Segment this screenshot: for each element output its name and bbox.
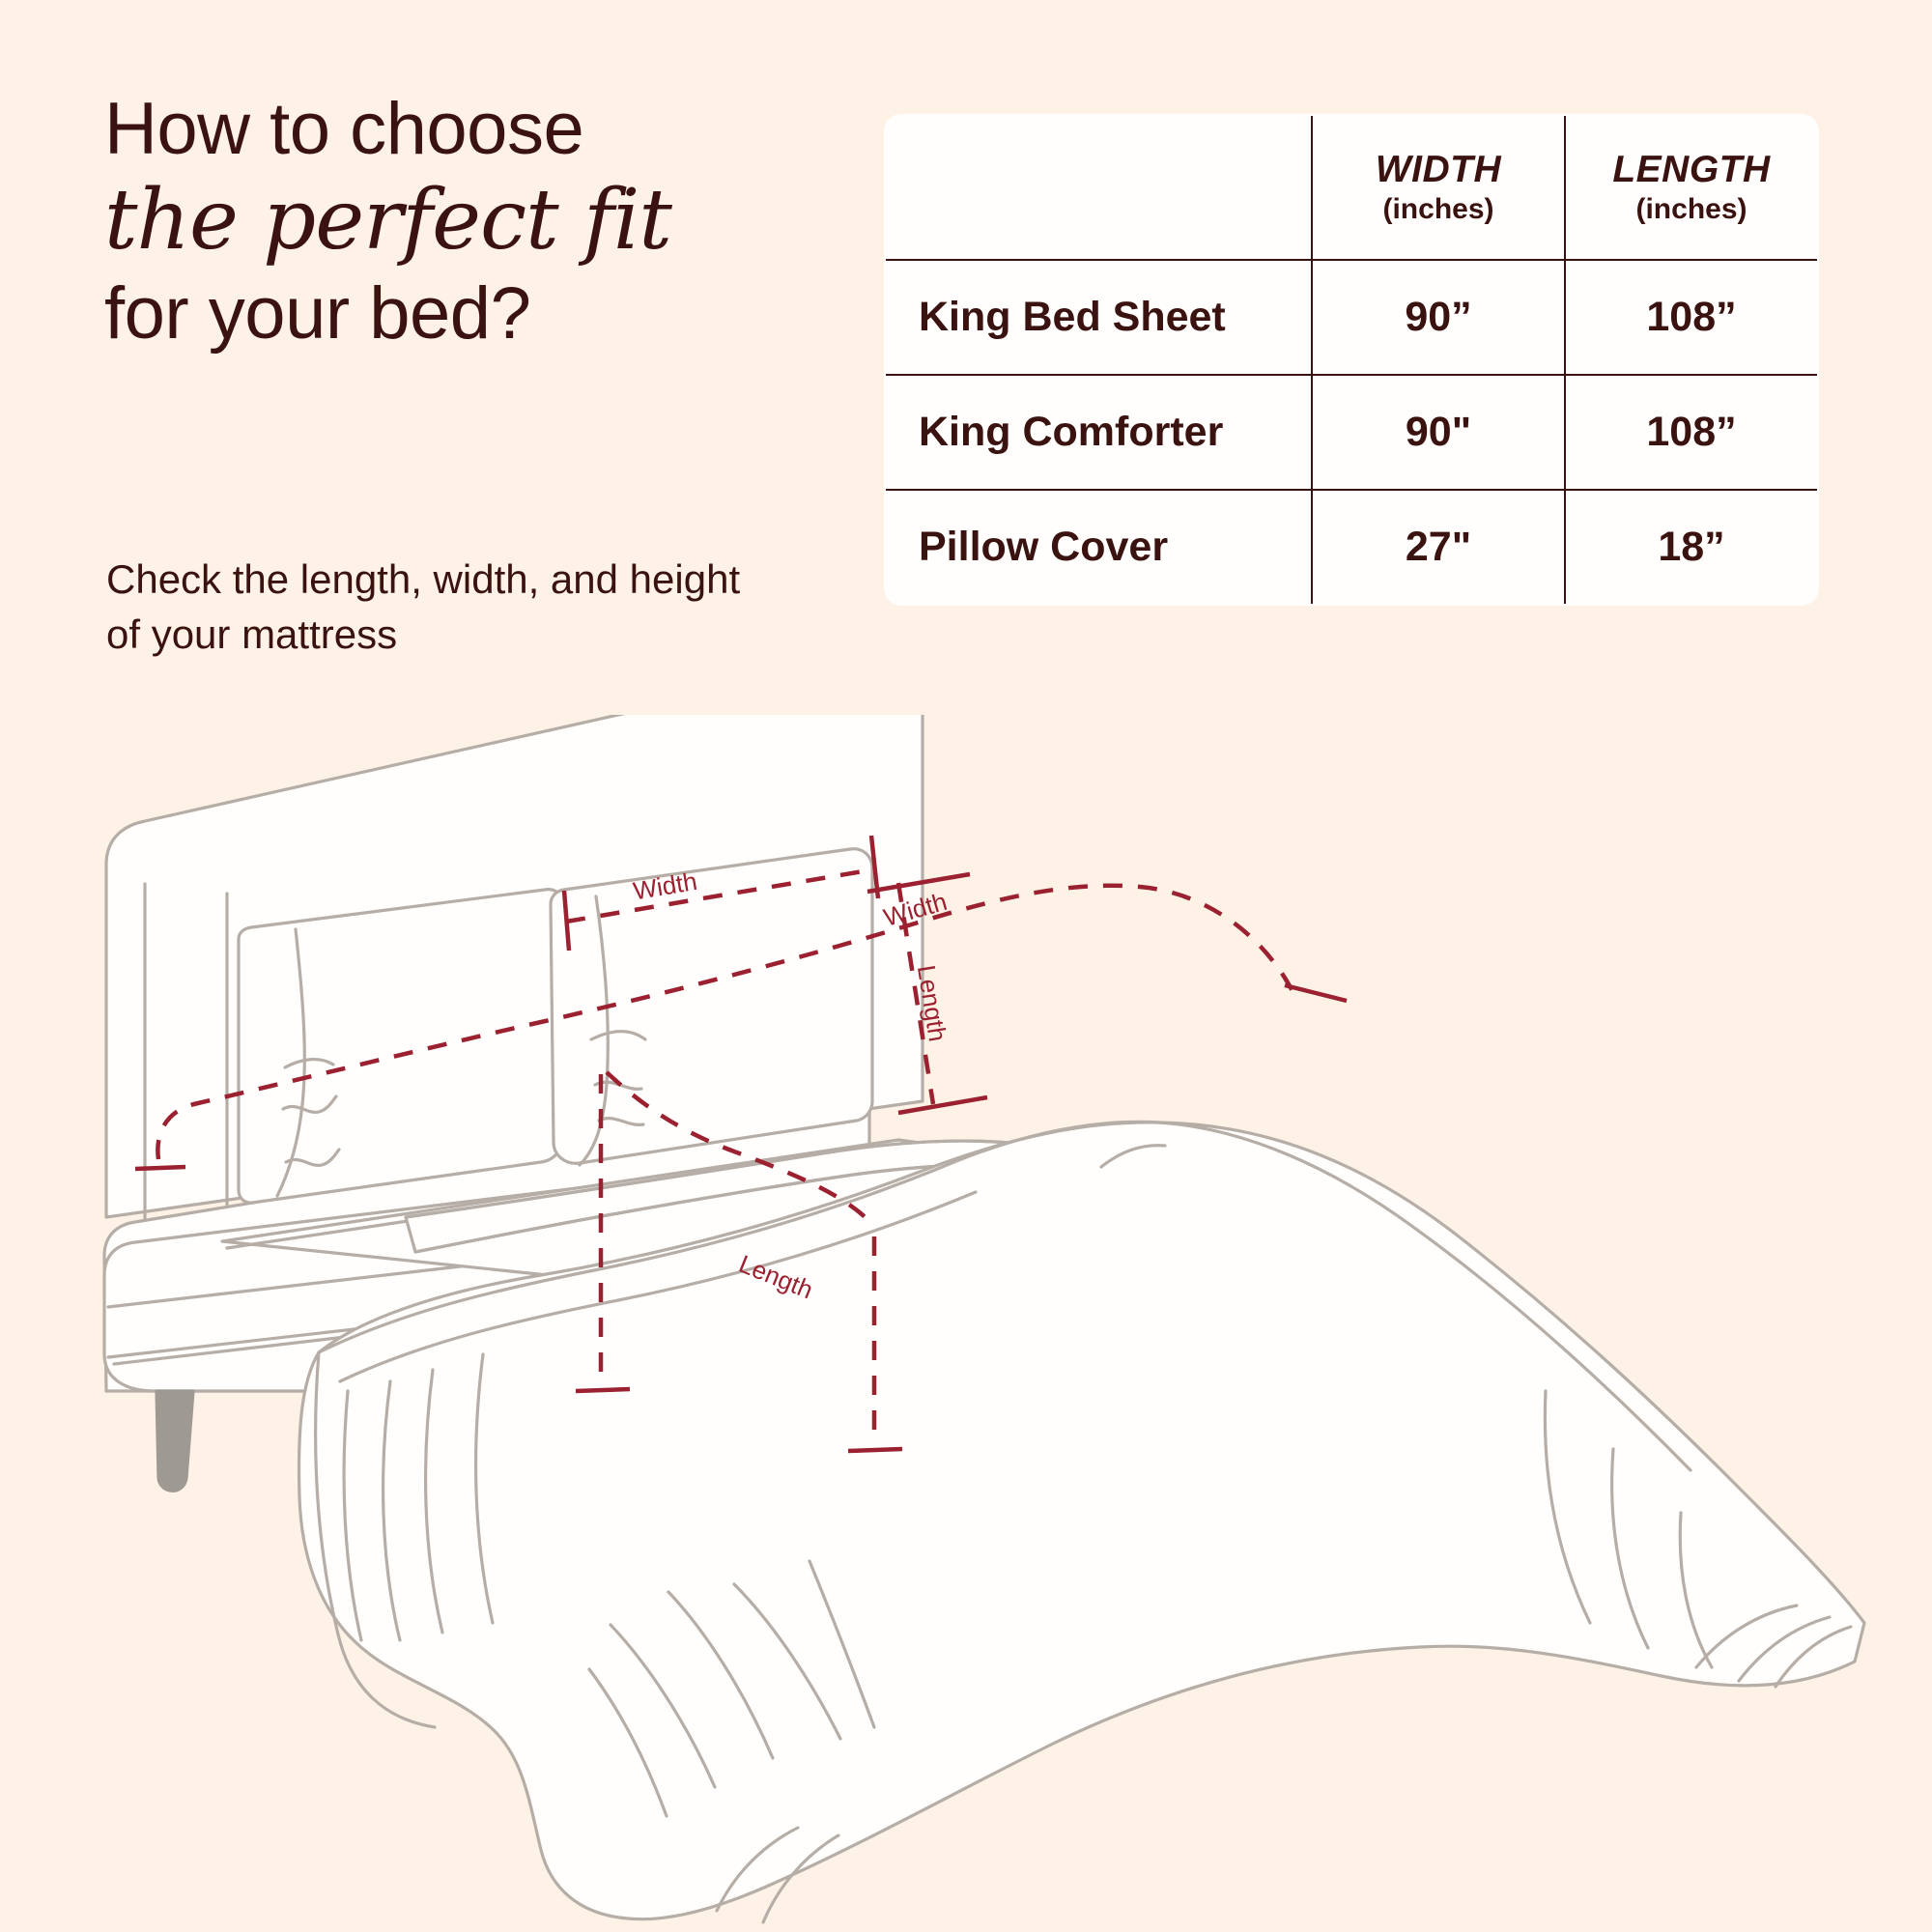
infographic-page: How to choose the perfect fit for your b… — [0, 0, 1932, 1932]
size-chart-table-wrapper: WIDTH (inches) LENGTH (inches) King Bed … — [884, 114, 1811, 606]
table-row: King Bed Sheet 90” 108” — [885, 260, 1818, 375]
size-chart-table: WIDTH (inches) LENGTH (inches) King Bed … — [884, 114, 1819, 606]
headline-line-2-emphasis: the perfect fit — [104, 172, 867, 270]
row-length-king-comforter: 108” — [1565, 375, 1818, 490]
header-length-main: LENGTH — [1566, 151, 1817, 190]
header-width-sub: (inches) — [1313, 194, 1564, 225]
row-width-king-comforter: 90" — [1312, 375, 1565, 490]
bed-line-drawing: Width Length Width Length — [0, 715, 1932, 1932]
pillow-left-outline — [239, 890, 563, 1203]
header-cell-width: WIDTH (inches) — [1312, 115, 1565, 260]
table-row: Pillow Cover 27" 18” — [885, 490, 1818, 605]
header-length-sub: (inches) — [1566, 194, 1817, 225]
headline-block: How to choose the perfect fit for your b… — [104, 93, 867, 351]
comforter-length-tick-top — [576, 1389, 630, 1391]
subtitle-text: Check the length, width, and height of y… — [106, 553, 782, 662]
headline-line-3: for your bed? — [104, 277, 867, 351]
row-length-pillow-cover: 18” — [1565, 490, 1818, 605]
headline-line-1: How to choose — [104, 93, 867, 166]
row-label-king-bed-sheet: King Bed Sheet — [885, 260, 1312, 375]
comforter-width-tick-start — [135, 1167, 185, 1169]
table-header-row: WIDTH (inches) LENGTH (inches) — [885, 115, 1818, 260]
row-label-pillow-cover: Pillow Cover — [885, 490, 1312, 605]
table-row: King Comforter 90" 108” — [885, 375, 1818, 490]
row-width-pillow-cover: 27" — [1312, 490, 1565, 605]
comforter-length-tick-bottom — [848, 1449, 902, 1451]
comforter-width-tick-end — [1285, 985, 1347, 1001]
row-label-king-comforter: King Comforter — [885, 375, 1312, 490]
row-length-king-bed-sheet: 108” — [1565, 260, 1818, 375]
header-width-main: WIDTH — [1313, 151, 1564, 190]
row-width-king-bed-sheet: 90” — [1312, 260, 1565, 375]
bed-leg — [156, 1391, 193, 1491]
header-cell-length: LENGTH (inches) — [1565, 115, 1818, 260]
header-cell-item — [885, 115, 1312, 260]
